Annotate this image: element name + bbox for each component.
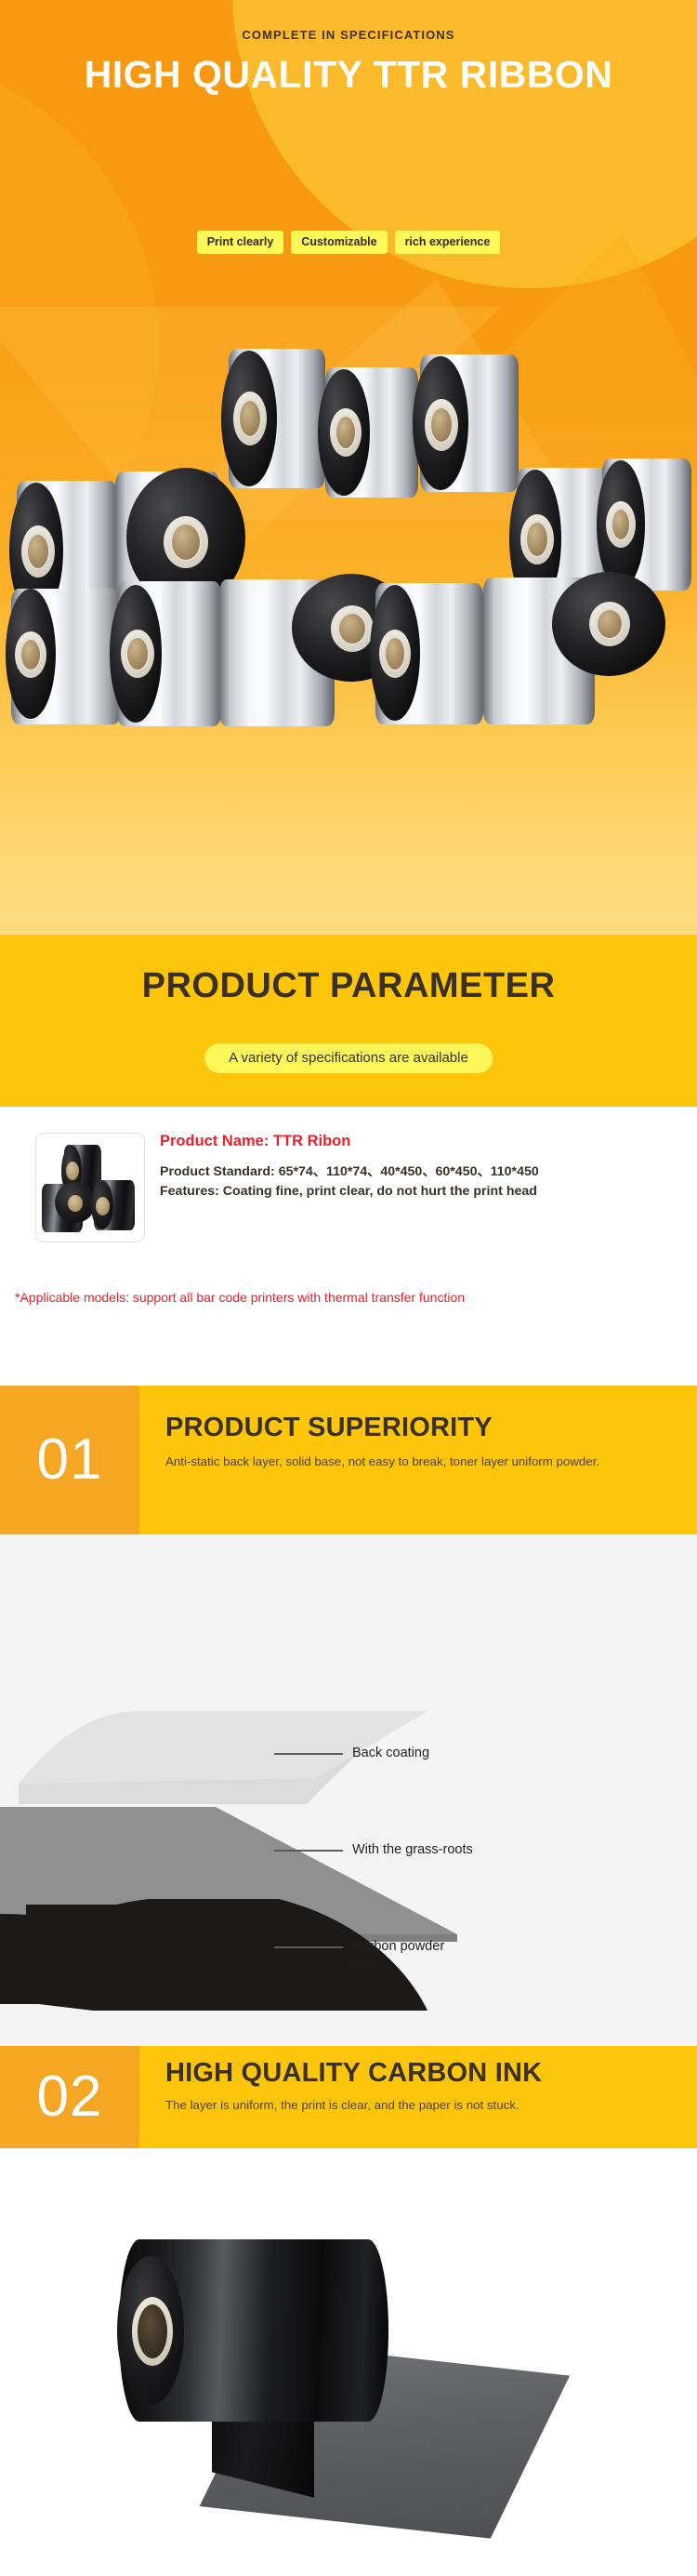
hero-product-photo [0, 358, 697, 879]
section-body-02: HIGH QUALITY CARBON INK The layer is uni… [165, 2046, 680, 2148]
product-features: Features: Coating fine, print clear, do … [160, 1182, 680, 1202]
hero-title: HIGH QUALITY TTR RIBBON [56, 51, 641, 98]
section-number-box-01: 01 [0, 1386, 139, 1534]
section-band-high-quality-carbon-ink: 02 HIGH QUALITY CARBON INK The layer is … [0, 2046, 697, 2148]
callout-leader-line [274, 1946, 343, 1948]
callout-leader-line [274, 1850, 343, 1852]
ribbon-roll [420, 354, 519, 492]
ribbon-roll [325, 367, 418, 498]
hero-section: COMPLETE IN SPECIFICATIONS HIGH QUALITY … [0, 0, 697, 935]
product-parameter-subtitle-pill: A variety of specifications are availabl… [204, 1043, 493, 1073]
diagram-callout-grass-roots: With the grass-roots [274, 1841, 473, 1860]
hero-tag-print-clearly: Print clearly [197, 231, 284, 254]
specification-text-block: Product Name: TTR Ribon Product Standard… [160, 1133, 680, 1201]
product-thumbnail-card [35, 1133, 145, 1242]
product-parameter-banner: PRODUCT PARAMETER A variety of specifica… [0, 935, 697, 1107]
ribbon-roll [11, 589, 121, 724]
section-title-02: HIGH QUALITY CARBON INK [165, 2059, 680, 2089]
diagram-callout-back-coating: Back coating [274, 1745, 429, 1763]
section-number-01: 01 [37, 1431, 103, 1489]
product-name: Product Name: TTR Ribon [160, 1133, 680, 1150]
ribbon-roll [375, 583, 483, 724]
thumbnail-roll [42, 1184, 83, 1232]
thumbnail-roll [94, 1180, 135, 1230]
ribbon-roll [117, 581, 221, 726]
ribbon-roll [483, 578, 595, 724]
section-number-box-02: 02 [0, 2046, 139, 2148]
ribbon-roll-large [119, 2239, 388, 2422]
product-standard: Product Standard: 65*74、110*74、40*450、60… [160, 1162, 680, 1182]
hero-tag-list: Print clearly Customizable rich experien… [0, 231, 697, 254]
applicable-models-note: *Applicable models: support all bar code… [15, 1288, 682, 1307]
section-description-02: The layer is uniform, the print is clear… [165, 2096, 649, 2116]
hero-tag-rich-experience: rich experience [395, 231, 501, 254]
diagram-callout-carbon-powder: Carbon powder layer [274, 1938, 473, 1974]
callout-label-grass-roots: With the grass-roots [352, 1841, 473, 1860]
ribbon-layer-diagram: Back coating With the grass-roots Carbon… [0, 1534, 697, 2046]
callout-leader-line [274, 1753, 343, 1755]
ribbon-roll [602, 458, 691, 591]
hero-eyebrow: COMPLETE IN SPECIFICATIONS [0, 28, 697, 42]
section-body-01: PRODUCT SUPERIORITY Anti-static back lay… [165, 1386, 680, 1534]
section-number-02: 02 [37, 2068, 103, 2126]
bottom-product-photo [0, 2148, 697, 2576]
hero-tag-customizable: Customizable [291, 231, 387, 254]
specifications-section: Product Name: TTR Ribon Product Standard… [0, 1107, 697, 1386]
section-title-01: PRODUCT SUPERIORITY [165, 1414, 680, 1443]
section-description-01: Anti-static back layer, solid base, not … [165, 1453, 649, 1472]
section-band-product-superiority: 01 PRODUCT SUPERIORITY Anti-static back … [0, 1386, 697, 1534]
roll-core [138, 2304, 167, 2358]
product-parameter-heading: PRODUCT PARAMETER [0, 966, 697, 1006]
ribbon-roll [219, 579, 335, 726]
callout-label-back-coating: Back coating [352, 1745, 429, 1763]
ribbon-roll [229, 349, 325, 488]
callout-label-carbon-powder: Carbon powder layer [352, 1938, 473, 1974]
